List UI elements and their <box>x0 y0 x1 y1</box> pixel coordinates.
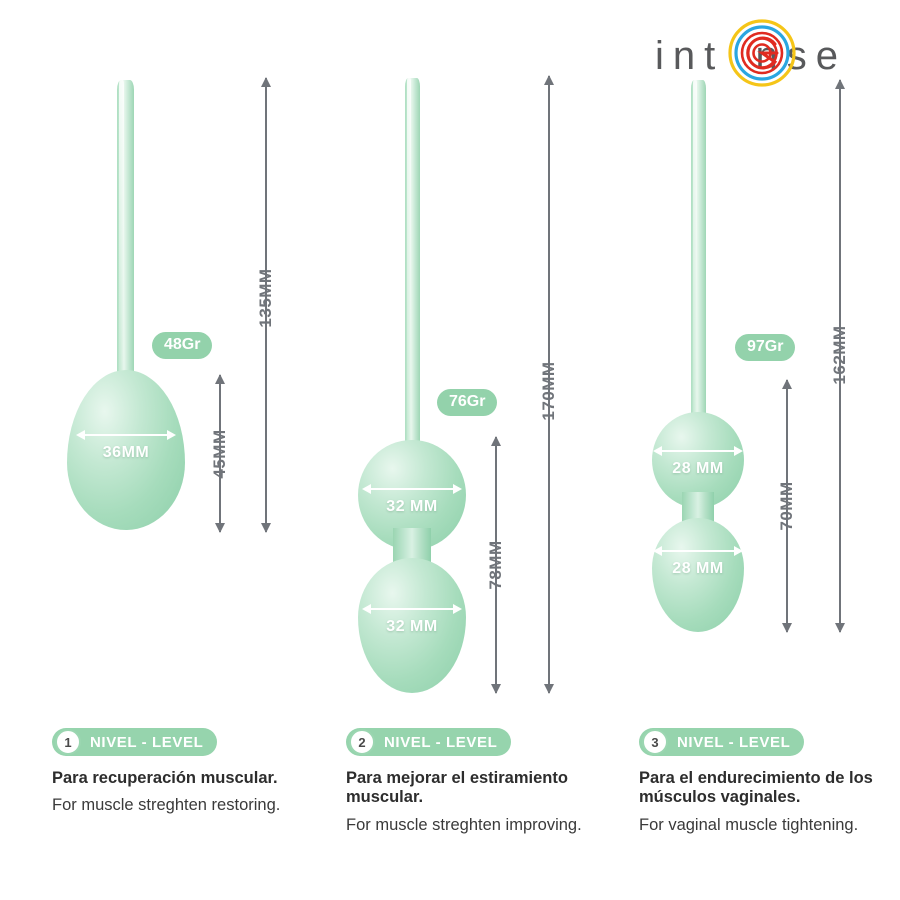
width-arrow-icon <box>653 544 743 558</box>
width-arrow-icon <box>362 482 462 496</box>
level-2-badge: 2 NIVEL - LEVEL <box>346 728 511 756</box>
product-column-3: 28 MM 28 MM 97Gr 70MM 162MM <box>590 0 890 720</box>
width-arrow-icon <box>653 444 743 458</box>
product-2-width-label-bottom: 32 MM <box>362 602 462 636</box>
product-3-weight-badge: 97Gr <box>735 334 795 361</box>
product-2-total-length-dimension: 170MM <box>539 76 559 693</box>
level-block-3: 3 NIVEL - LEVEL Para el endurecimiento d… <box>639 728 900 835</box>
width-arrow-icon <box>362 602 462 616</box>
level-block-1: 1 NIVEL - LEVEL Para recuperación muscul… <box>52 728 322 816</box>
product-3-total-length-dimension: 162MM <box>830 80 850 632</box>
level-1-title-es: Para recuperación muscular. <box>52 769 322 788</box>
product-3-width-label-bottom: 28 MM <box>653 544 743 578</box>
level-2-title-es: Para mejorar el estiramiento muscular. <box>346 769 616 808</box>
level-3-number: 3 <box>642 729 668 755</box>
product-2-weight-badge: 76Gr <box>437 389 497 416</box>
product-1-body-length-dimension: 45MM <box>210 375 230 532</box>
level-3-badge-label: NIVEL - LEVEL <box>677 734 790 751</box>
level-1-badge: 1 NIVEL - LEVEL <box>52 728 217 756</box>
level-1-title-en: For muscle streghten restoring. <box>52 795 322 815</box>
level-3-badge: 3 NIVEL - LEVEL <box>639 728 804 756</box>
product-column-2: 32 MM 32 MM 76Gr 78MM 170MM <box>296 0 596 720</box>
product-3-body-length-dimension: 70MM <box>777 380 797 632</box>
level-3-title-es: Para el endurecimiento de los músculos v… <box>639 769 900 808</box>
level-2-badge-label: NIVEL - LEVEL <box>384 734 497 751</box>
product-1-weight-badge: 48Gr <box>152 332 212 359</box>
product-1-width-label: 36MM <box>76 428 176 462</box>
product-2-stem <box>405 78 420 448</box>
product-3-width-label-top: 28 MM <box>653 444 743 478</box>
level-3-title-en: For vaginal muscle tightening. <box>639 815 900 835</box>
width-arrow-icon <box>76 428 176 442</box>
product-2-body-length-dimension: 78MM <box>486 437 506 693</box>
level-2-number: 2 <box>349 729 375 755</box>
level-1-number: 1 <box>55 729 81 755</box>
level-block-2: 2 NIVEL - LEVEL Para mejorar el estirami… <box>346 728 616 835</box>
product-3-stem <box>691 80 706 420</box>
product-1-total-length-dimension: 135MM <box>256 78 276 532</box>
infographic-canvas: intense 36MM 48Gr 45MM 135MM <box>0 0 900 900</box>
level-2-title-en: For muscle streghten improving. <box>346 815 616 835</box>
product-column-1: 36MM 48Gr 45MM 135MM <box>0 0 300 720</box>
product-2-width-label-top: 32 MM <box>362 482 462 516</box>
product-1-stem <box>117 80 134 380</box>
level-1-badge-label: NIVEL - LEVEL <box>90 734 203 751</box>
